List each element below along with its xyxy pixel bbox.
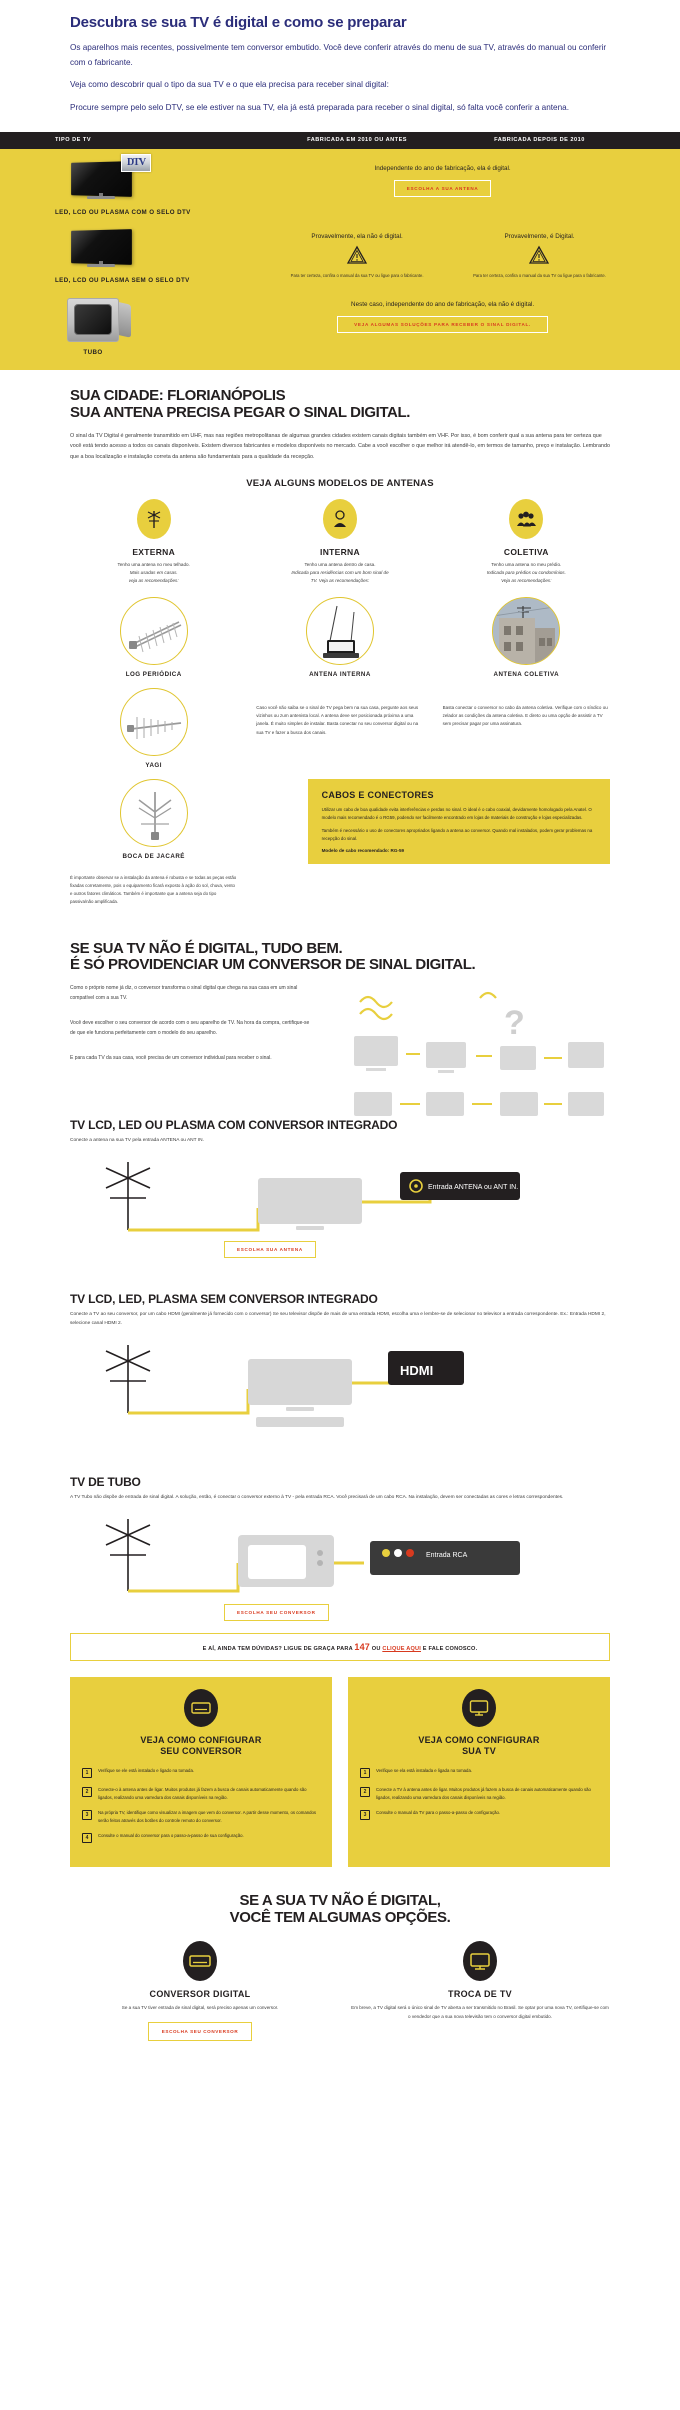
row2-col2-subnote: Para ter certeza, confira o manual da su…: [260, 273, 454, 280]
step-text: Conecte a TV à antena antes de ligar. Mu…: [376, 1786, 598, 1801]
config-step: 2 Conecte a TV à antena antes de ligar. …: [360, 1786, 598, 1801]
tv-table-header: TIPO DE TV FABRICADA EM 2010 OU ANTES FA…: [0, 132, 680, 149]
step-text: Consulte o manual da TV para o passo-a-p…: [376, 1809, 500, 1820]
config-step: 2 Conecte-o à antena antes de ligar. Mui…: [82, 1786, 320, 1801]
step-number: 1: [360, 1768, 370, 1778]
antenna-model-name: ANTENA INTERNA: [256, 671, 423, 678]
option-title: CONVERSOR DIGITAL: [70, 1989, 330, 1999]
config-step: 3 Na própria TV, identifique como visual…: [82, 1809, 320, 1824]
desc-line-1: Tenho uma antena dentro de casa.: [256, 561, 423, 569]
antenna-models-row-1: LOG PERIÓDICA ANTENA INTERNA: [70, 597, 610, 678]
step-number: 2: [82, 1787, 92, 1797]
config-step: 1 Verifique se ela está instalada e liga…: [360, 1767, 598, 1778]
models-heading: VEJA ALGUNS MODELOS DE ANTENAS: [70, 478, 610, 489]
cables-title: CABOS E CONECTORES: [322, 790, 596, 800]
help-bar-text-middle: OU: [370, 1646, 382, 1652]
converter-heading: SE SUA TV NÃO É DIGITAL, TUDO BEM. É SÓ …: [70, 941, 610, 975]
antenna-coletiva-image: [492, 597, 560, 665]
card-title-line2: SEU CONVERSOR: [82, 1746, 320, 1757]
warning-triangle-icon: [528, 245, 550, 265]
antenna-yagi-image: [120, 688, 188, 756]
antenna-models-row-3: BOCA DE JACARÉ CABOS E CONECTORES Utiliz…: [70, 779, 610, 864]
antenna-type-title: EXTERNA: [70, 547, 237, 557]
intro-paragraph-2: Veja como descobrir qual o tipo da sua T…: [70, 77, 610, 92]
tv-type-label: TUBO: [55, 349, 131, 356]
table-row: DTV LED, LCD OU PLASMA COM O SELO DTV In…: [0, 154, 680, 222]
antenna-type-desc: Tenho uma antena no meu telhado. Mais us…: [70, 561, 237, 585]
config-step: 4 Consulte o manual do conversor para o …: [82, 1832, 320, 1843]
converter-section: SE SUA TV NÃO É DIGITAL, TUDO BEM. É SÓ …: [0, 935, 680, 1099]
step-number: 1: [82, 1768, 92, 1778]
antenna-model-yagi[interactable]: YAGI: [70, 688, 237, 769]
step-number: 3: [360, 1810, 370, 1820]
antenna-model-log-periodica[interactable]: LOG PERIÓDICA: [70, 597, 237, 678]
tv-flat-no-seal-image: [55, 228, 139, 274]
page-title: Descubra se sua TV é digital e como se p…: [70, 14, 610, 31]
diagram-canvas: Entrada RCA ESCOLHA SEU CONVERSOR: [70, 1511, 610, 1611]
antenna-types-row: EXTERNA Tenho uma antena no meu telhado.…: [70, 499, 610, 585]
row2-col2-note: Provavelmente, ela não é digital.: [260, 232, 454, 241]
card-title-line1: VEJA COMO CONFIGURAR: [82, 1735, 320, 1746]
antenna-type-title: COLETIVA: [443, 547, 610, 557]
option-text: Se a sua TV tiver entrada de sinal digit…: [70, 2004, 330, 2012]
help-bar-link[interactable]: CLIQUE AQUI: [382, 1646, 421, 1652]
converter-box-icon: [183, 1941, 217, 1981]
options-section: SE A SUA TV NÃO É DIGITAL, VOCÊ TEM ALGU…: [0, 1867, 680, 2058]
antenna-models-row-4: É importante observar se a instalação da…: [70, 874, 610, 907]
desc-line-2: Mais usadas em casas.: [130, 570, 178, 575]
config-card-title: VEJA COMO CONFIGURAR SEU CONVERSOR: [82, 1735, 320, 1758]
antenna-external-icon: [137, 499, 171, 539]
antenna-collective-icon: [509, 499, 543, 539]
antenna-boca-jacare-image: [120, 779, 188, 847]
tv-type-cell: DTV LED, LCD OU PLASMA COM O SELO DTV: [55, 160, 260, 216]
yagi-note-text: Caso você não saiba se o sinal de TV peg…: [256, 688, 423, 736]
tv-screen-icon: [462, 1689, 496, 1727]
cables-paragraph-1: Utilizar um cabo de boa qualidade evita …: [322, 806, 596, 822]
config-card-title: VEJA COMO CONFIGURAR SUA TV: [360, 1735, 598, 1758]
step-text: Consulte o manual do conversor para o pa…: [98, 1832, 244, 1843]
antenna-model-interna[interactable]: ANTENA INTERNA: [256, 597, 423, 678]
yagi-note-cell: Caso você não saiba se o sinal de TV peg…: [256, 688, 423, 769]
table-header-depois2010: FABRICADA DEPOIS DE 2010: [454, 137, 625, 143]
antenna-type-externa[interactable]: EXTERNA Tenho uma antena no meu telhado.…: [70, 499, 237, 585]
diagram-canvas: Entrada ANTENA ou ANT IN. ESCOLHA SUA AN…: [70, 1154, 610, 1250]
city-body-text: O sinal da TV Digital é geralmente trans…: [70, 431, 610, 463]
options-heading-line2: VOCÊ TEM ALGUMAS OPÇÕES.: [70, 1910, 610, 1927]
tv-flat-with-seal-image: DTV: [55, 160, 139, 206]
cables-model-line: Modelo de cabo recomendado: RG-59: [322, 848, 596, 853]
svg-text:?: ?: [504, 1004, 525, 1042]
coletiva-note-cell: Basta conectar o conversor no cabo da an…: [443, 688, 610, 769]
intro-paragraph-3: Procure sempre pelo selo DTV, se ele est…: [70, 100, 610, 115]
escolha-seu-conversor-button[interactable]: ESCOLHA SEU CONVERSOR: [148, 2022, 253, 2041]
converter-heading-line2: É SÓ PROVIDENCIAR UM CONVERSOR DE SINAL …: [70, 957, 610, 974]
city-heading-line1: SUA CIDADE: FLORIANÓPOLIS: [70, 388, 610, 405]
city-heading: SUA CIDADE: FLORIANÓPOLIS SUA ANTENA PRE…: [70, 388, 610, 422]
step-text: Verifique se ela está instalada e ligada…: [376, 1767, 472, 1778]
row2-col3-cell: Provavelmente, é Digital. Para ter certe…: [454, 228, 625, 280]
antenna-model-coletiva[interactable]: ANTENA COLETIVA: [443, 597, 610, 678]
config-card-conversor: VEJA COMO CONFIGURAR SEU CONVERSOR 1 Ver…: [70, 1677, 332, 1868]
help-bar-text-before: E AÍ, AINDA TEM DÚVIDAS? LIGUE DE GRAÇA …: [203, 1646, 355, 1652]
antenna-model-name: LOG PERIÓDICA: [70, 671, 237, 678]
converter-paragraph-2: Você deve escolher o seu conversor de ac…: [70, 1019, 316, 1038]
option-title: TROCA DE TV: [350, 1989, 610, 1999]
diagram-tube-tv: TV DE TUBO A TV Tubo não dispõe de entra…: [0, 1437, 680, 1615]
cables-connectors-box: CABOS E CONECTORES Utilizar um cabo de b…: [308, 779, 610, 864]
intro-block: Descubra se sua TV é digital e como se p…: [0, 0, 680, 132]
escolha-seu-conversor-button[interactable]: ESCOLHA SEU CONVERSOR: [224, 1604, 329, 1621]
help-bar[interactable]: E AÍ, AINDA TEM DÚVIDAS? LIGUE DE GRAÇA …: [70, 1633, 610, 1661]
step-text: Na própria TV, identifique como visualiz…: [98, 1809, 320, 1824]
row2-col3-subnote: Para ter certeza, confira o manual da su…: [454, 273, 625, 280]
converter-explain-row: Como o próprio nome já diz, o conversor …: [70, 984, 610, 1080]
antenna-model-name: BOCA DE JACARÉ: [70, 853, 237, 860]
svg-text:Entrada ANTENA ou ANT IN.: Entrada ANTENA ou ANT IN.: [428, 1184, 518, 1191]
diagram-title: TV DE TUBO: [70, 1475, 610, 1489]
table-header-antes2010: FABRICADA EM 2010 OU ANTES: [260, 137, 454, 143]
diagram-subtitle: A TV Tubo não dispõe de entrada de sinal…: [70, 1494, 610, 1503]
option-conversor-digital: CONVERSOR DIGITAL Se a sua TV tiver entr…: [70, 1941, 330, 2040]
step-text: Conecte-o à antena antes de ligar. Muito…: [98, 1786, 320, 1801]
help-bar-text-after: E FALE CONOSCO.: [421, 1646, 477, 1652]
page-root: Descubra se sua TV é digital e como se p…: [0, 0, 680, 2139]
diagram-subtitle: Conecte a TV ao seu conversor, por um ca…: [70, 1311, 610, 1329]
card-title-line2: SUA TV: [360, 1746, 598, 1757]
diagram-subtitle: Conecte a antena na sua TV pela entrada …: [70, 1137, 610, 1146]
converter-texts: Como o próprio nome já diz, o conversor …: [70, 984, 316, 1064]
step-text: Verifique se ele está instalado e ligado…: [98, 1767, 194, 1778]
svg-text:Entrada RCA: Entrada RCA: [426, 1552, 468, 1559]
row3-note: Neste caso, independente do ano de fabri…: [260, 300, 625, 309]
tv-type-label: LED, LCD OU PLASMA COM O SELO DTV: [55, 209, 260, 216]
intro-paragraph-1: Os aparelhos mais recentes, possivelment…: [70, 40, 610, 70]
converter-paragraph-3: E para cada TV da sua casa, você precisa…: [70, 1054, 316, 1064]
escolha-antena-button[interactable]: ESCOLHA A SUA ANTENA: [394, 180, 492, 197]
step-number: 2: [360, 1787, 370, 1797]
desc-line-3: Veja as recomendações:: [501, 578, 551, 583]
row2-col3-note: Provavelmente, é Digital.: [454, 232, 625, 241]
tv-type-cell: TUBO: [55, 296, 260, 356]
table-row: LED, LCD OU PLASMA SEM O SELO DTV Provav…: [0, 222, 680, 290]
option-troca-de-tv: TROCA DE TV Em breve, a TV digital será …: [350, 1941, 610, 2040]
converter-illustration: ?: [330, 984, 610, 1080]
config-cards-row: VEJA COMO CONFIGURAR SEU CONVERSOR 1 Ver…: [70, 1677, 610, 1868]
tv-type-label: LED, LCD OU PLASMA SEM O SELO DTV: [55, 277, 260, 284]
config-card-tv: VEJA COMO CONFIGURAR SUA TV 1 Verifique …: [348, 1677, 610, 1868]
antenna-model-boca-de-jacare[interactable]: BOCA DE JACARÉ: [70, 779, 237, 860]
diagram-title: TV LCD, LED, PLASMA SEM CONVERSOR INTEGR…: [70, 1292, 610, 1306]
options-row: CONVERSOR DIGITAL Se a sua TV tiver entr…: [70, 1941, 610, 2040]
tv-screen-icon: [463, 1941, 497, 1981]
converter-box-icon: [184, 1689, 218, 1727]
desc-line-3: TV. Veja as recomendações:: [311, 578, 369, 583]
option-text: Em breve, a TV digital será o único sina…: [350, 2004, 610, 2021]
tv-comparison-table: DTV LED, LCD OU PLASMA COM O SELO DTV In…: [0, 149, 680, 370]
antenna-type-coletiva[interactable]: COLETIVA Tenho uma antena no meu prédio.…: [443, 499, 610, 585]
cables-paragraph-2: Também é necessário o uso de conectores …: [322, 827, 596, 843]
options-heading-line1: SE A SUA TV NÃO É DIGITAL,: [70, 1893, 610, 1910]
converter-heading-line1: SE SUA TV NÃO É DIGITAL, TUDO BEM.: [70, 941, 610, 958]
desc-line-1: Tenho uma antena no meu prédio.: [443, 561, 610, 569]
antenna-models-row-2: YAGI Caso você não saiba se o sinal de T…: [70, 688, 610, 769]
antenna-log-periodica-image: [120, 597, 188, 665]
diagram-canvas: HDMI: [70, 1337, 610, 1433]
row3-merged-cell: Neste caso, independente do ano de fabri…: [260, 296, 625, 333]
warning-triangle-icon: [346, 245, 368, 265]
tv-tube-image: [55, 296, 139, 346]
antenna-model-name: ANTENA COLETIVA: [443, 671, 610, 678]
step-number: 3: [82, 1810, 92, 1820]
converter-paragraph-1: Como o próprio nome já diz, o conversor …: [70, 984, 316, 1003]
city-heading-line2: SUA ANTENA PRECISA PEGAR O SINAL DIGITAL…: [70, 405, 610, 422]
antenna-internal-icon: [323, 499, 357, 539]
row1-note: Independente do ano de fabricação, ela é…: [260, 164, 625, 173]
antenna-type-interna[interactable]: INTERNA Tenho uma antena dentro de casa.…: [256, 499, 423, 585]
escolha-sua-antena-button[interactable]: ESCOLHA SUA ANTENA: [224, 1241, 316, 1258]
city-antenna-section: SUA CIDADE: FLORIANÓPOLIS SUA ANTENA PRE…: [0, 370, 680, 935]
table-row: TUBO Neste caso, independente do ano de …: [0, 290, 680, 362]
config-step: 1 Verifique se ele está instalado e liga…: [82, 1767, 320, 1778]
antenna-type-desc: Tenho uma antena dentro de casa. Indicad…: [256, 561, 423, 585]
antenna-type-title: INTERNA: [256, 547, 423, 557]
step-number: 4: [82, 1833, 92, 1843]
desc-line-2: Indicada para prédios ou condomínios.: [487, 570, 566, 575]
row2-col2-cell: Provavelmente, ela não é digital. Para t…: [260, 228, 454, 280]
help-phone-number: 147: [354, 1642, 370, 1652]
antenna-type-desc: Tenho uma antena no meu prédio. Indicada…: [443, 561, 610, 585]
coletiva-note-text: Basta conectar o conversor no cabo da an…: [443, 688, 610, 728]
boca-jacare-note: É importante observar se a instalação da…: [70, 874, 237, 907]
desc-line-1: Tenho uma antena no meu telhado.: [70, 561, 237, 569]
antenna-interna-image: [306, 597, 374, 665]
antenna-models-grid: LOG PERIÓDICA ANTENA INTERNA: [70, 597, 610, 906]
dtv-seal-icon: DTV: [121, 154, 151, 172]
row1-merged-cell: Independente do ano de fabricação, ela é…: [260, 160, 625, 197]
antenna-model-name: YAGI: [70, 762, 237, 769]
diagram-no-converter: TV LCD, LED, PLASMA SEM CONVERSOR INTEGR…: [0, 1254, 680, 1437]
options-heading: SE A SUA TV NÃO É DIGITAL, VOCÊ TEM ALGU…: [70, 1893, 610, 1927]
veja-solucoes-button[interactable]: VEJA ALGUMAS SOLUÇÕES PARA RECEBER O SIN…: [337, 316, 548, 333]
desc-line-2: Indicada para residências com um bom sin…: [291, 570, 388, 575]
card-title-line1: VEJA COMO CONFIGURAR: [360, 1735, 598, 1746]
config-step: 3 Consulte o manual da TV para o passo-a…: [360, 1809, 598, 1820]
table-header-tipo: TIPO DE TV: [55, 137, 260, 143]
bottom-spacer: [0, 2059, 680, 2139]
desc-line-3: veja as recomendações:: [129, 578, 179, 583]
tv-type-cell: LED, LCD OU PLASMA SEM O SELO DTV: [55, 228, 260, 284]
svg-text:HDMI: HDMI: [400, 1363, 433, 1378]
